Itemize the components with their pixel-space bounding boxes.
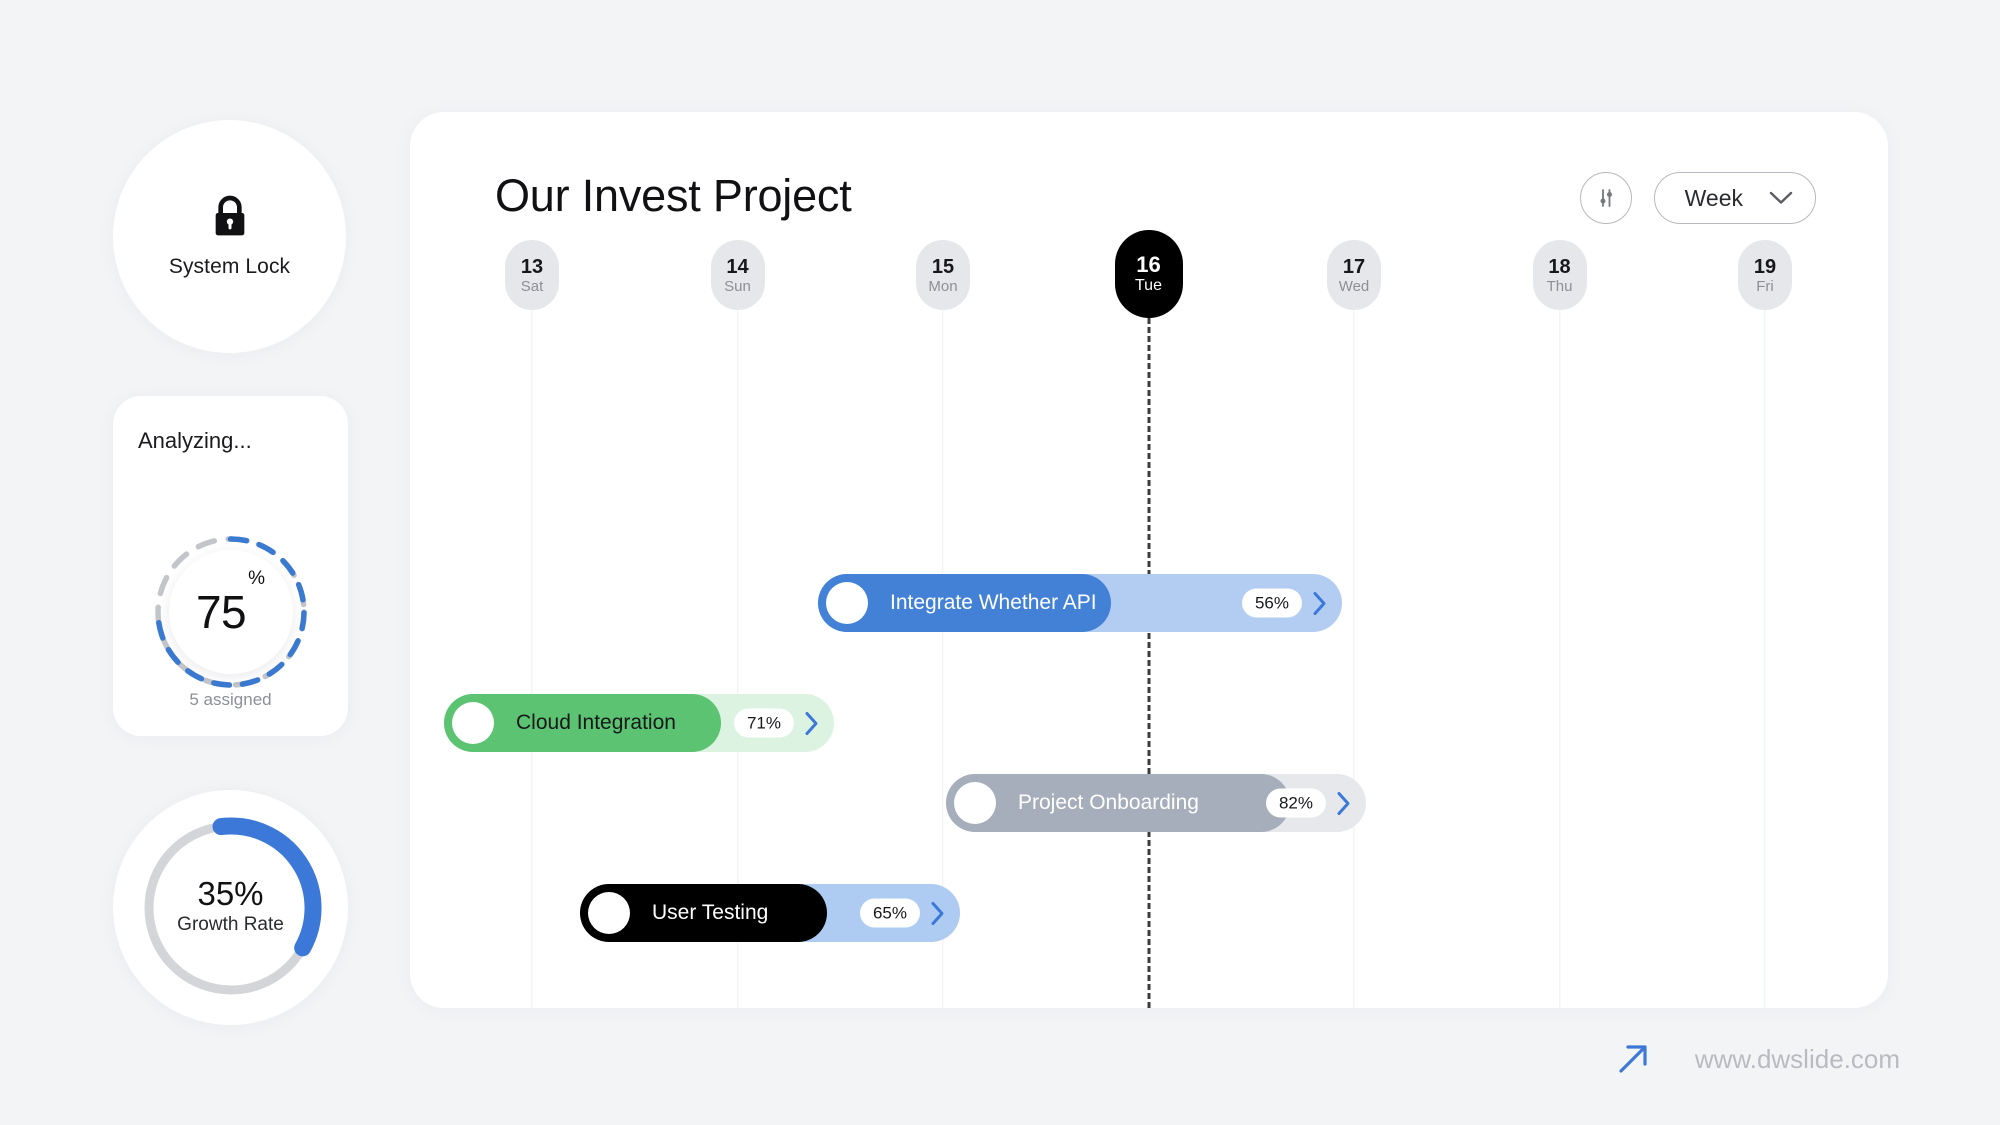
analyzing-unit: %: [248, 568, 265, 590]
task-percent-badge: 65%: [860, 899, 920, 928]
analyzing-card: Analyzing... 75 % 5 assigned: [113, 396, 348, 736]
chevron-right-icon[interactable]: [930, 900, 946, 926]
footer: www.dwslide.com: [1615, 1041, 1900, 1077]
system-lock-label: System Lock: [169, 255, 290, 279]
analyzing-gauge-center: 75 %: [169, 550, 293, 674]
task-name: User Testing: [652, 901, 768, 925]
task-bar[interactable]: Cloud Integration71%: [444, 694, 834, 752]
task-name: Integrate Whether API: [890, 591, 1097, 615]
task-avatar[interactable]: [588, 892, 630, 934]
footer-url: www.dwslide.com: [1695, 1044, 1900, 1075]
growth-rate-text: 35% Growth Rate: [113, 874, 348, 938]
growth-rate-label: Growth Rate: [113, 912, 348, 938]
task-percent-badge: 56%: [1242, 589, 1302, 618]
analyzing-value: 75: [196, 585, 246, 639]
analyzing-title: Analyzing...: [138, 428, 252, 454]
task-avatar[interactable]: [452, 702, 494, 744]
task-bar[interactable]: User Testing65%: [580, 884, 960, 942]
lock-icon: [210, 195, 250, 239]
task-percent-badge: 82%: [1266, 789, 1326, 818]
task-percent-badge: 71%: [734, 709, 794, 738]
system-lock-card[interactable]: System Lock: [113, 120, 346, 353]
sidebar: System Lock Analyzing... 75 % 5 assigned: [0, 0, 410, 1125]
analyzing-assigned: 5 assigned: [113, 690, 348, 710]
timeline-panel: Our Invest Project Week: [410, 112, 1888, 1008]
chevron-right-icon[interactable]: [804, 710, 820, 736]
growth-rate-value: 35%: [113, 874, 348, 912]
task-progress-fill: Integrate Whether API: [818, 574, 1111, 632]
task-bar[interactable]: Project Onboarding82%: [946, 774, 1366, 832]
slide-root: System Lock Analyzing... 75 % 5 assigned: [0, 0, 2000, 1125]
task-bar[interactable]: Integrate Whether API56%: [818, 574, 1342, 632]
arrow-up-right-icon: [1615, 1041, 1651, 1077]
chevron-right-icon[interactable]: [1312, 590, 1328, 616]
task-list: Integrate Whether API56%Cloud Integratio…: [410, 112, 1888, 1008]
task-progress-fill: User Testing: [580, 884, 827, 942]
task-progress-fill: Cloud Integration: [444, 694, 721, 752]
task-name: Cloud Integration: [516, 711, 676, 735]
task-avatar[interactable]: [826, 582, 868, 624]
task-meta: 71%: [734, 709, 820, 738]
task-progress-fill: Project Onboarding: [946, 774, 1290, 832]
task-meta: 56%: [1242, 589, 1328, 618]
task-name: Project Onboarding: [1018, 791, 1199, 815]
analyzing-gauge: 75 %: [151, 532, 311, 692]
chevron-right-icon[interactable]: [1336, 790, 1352, 816]
task-meta: 82%: [1266, 789, 1352, 818]
task-meta: 65%: [860, 899, 946, 928]
growth-rate-card: 35% Growth Rate: [113, 790, 348, 1025]
task-avatar[interactable]: [954, 782, 996, 824]
